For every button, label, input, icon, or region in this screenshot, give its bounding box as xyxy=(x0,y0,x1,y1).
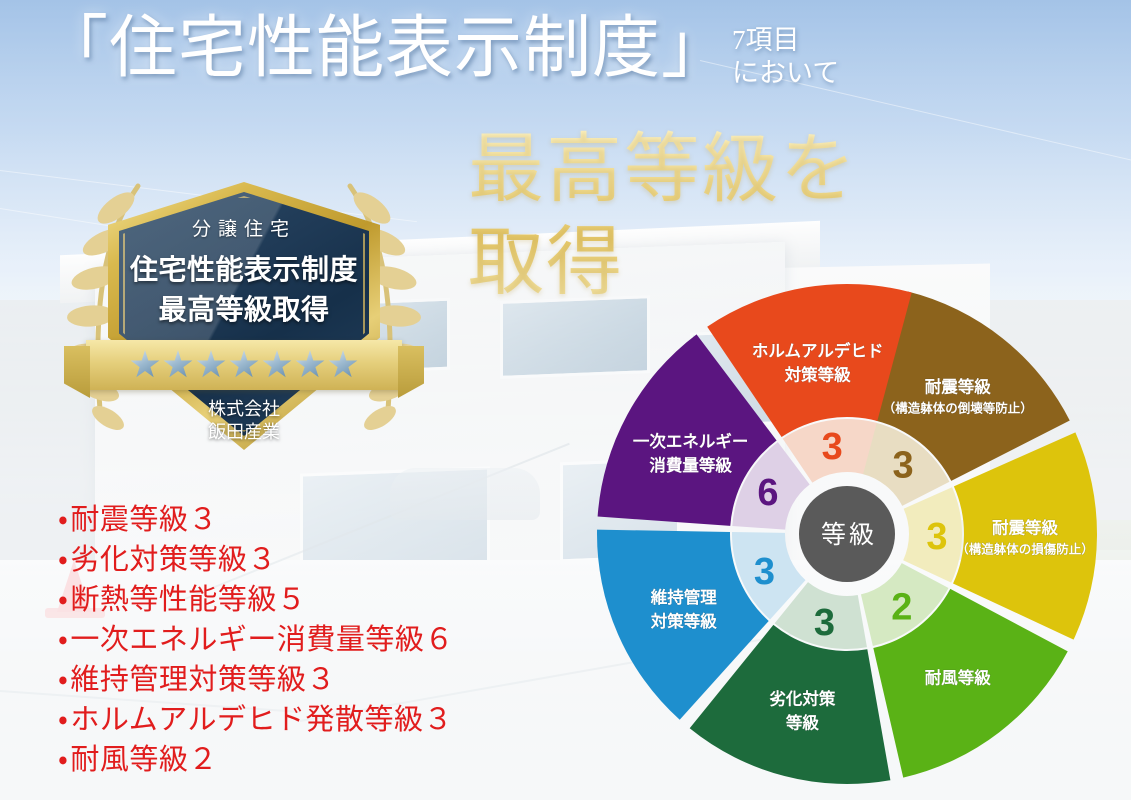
star-icon xyxy=(295,350,325,380)
pie-segment-label: 劣化対策 xyxy=(769,688,836,708)
performance-pie-chart: 3耐震等級（構造躰体の倒壊等防止）3耐震等級（構造躰体の損傷防止）2耐風等級3劣… xyxy=(577,268,1117,800)
headline-main-text: 「住宅性能表示制度」 xyxy=(40,14,730,82)
pie-segment-grade-value: 3 xyxy=(822,426,843,468)
pie-segment-label: ホルムアルデヒド xyxy=(752,340,884,360)
poster-canvas: 「住宅性能表示制度」 7項目 において 最高等級を 取得 xyxy=(0,0,1131,800)
grade-list-item: 断熱等性能等級５ xyxy=(58,580,454,620)
pie-segment-grade-value: 3 xyxy=(754,551,775,593)
badge-company: 株式会社 飯田産業 xyxy=(64,398,424,444)
grade-list-item: 耐震等級３ xyxy=(58,500,454,540)
pie-segment-label: 耐風等級 xyxy=(925,667,992,687)
star-icon xyxy=(262,350,292,380)
grade-list-item: 維持管理対策等級３ xyxy=(58,660,454,700)
pie-segment-sublabel: 等級 xyxy=(786,712,820,732)
headline-sub-text: 7項目 において xyxy=(732,24,839,90)
company-line2: 飯田産業 xyxy=(64,421,424,444)
pie-segment-sublabel: （構造躰体の倒壊等防止） xyxy=(883,401,1033,416)
performance-grade-list: 耐震等級３劣化対策等級３断熱等性能等級５一次エネルギー消費量等級６維持管理対策等… xyxy=(58,500,454,780)
badge-category: 分譲住宅 xyxy=(64,214,424,241)
grade-list-item: 耐風等級２ xyxy=(58,740,454,780)
grade-list-item: 劣化対策等級３ xyxy=(58,540,454,580)
pie-segment-grade-value: 6 xyxy=(757,472,778,514)
pie-segment-label: 耐震等級 xyxy=(925,377,992,397)
star-icon xyxy=(163,350,193,380)
pie-segment-grade-value: 2 xyxy=(891,586,912,628)
star-icon xyxy=(130,350,160,380)
headline-sub-line1: 7項目 xyxy=(732,24,839,57)
pie-segment-label: 一次エネルギー xyxy=(633,431,749,451)
pie-segment-grade-value: 3 xyxy=(814,602,835,644)
pie-segment-sublabel: 消費量等級 xyxy=(649,455,732,475)
gold-subtitle-line1: 最高等級を xyxy=(468,128,858,212)
badge-title-line2: 最高等級取得 xyxy=(64,288,424,328)
pie-segment-label: 維持管理 xyxy=(650,587,718,607)
grade-list-item: ホルムアルデヒド発散等級３ xyxy=(58,700,454,740)
pie-segment-grade-value: 3 xyxy=(926,516,947,558)
company-line1: 株式会社 xyxy=(64,398,424,421)
badge-star-ribbon xyxy=(86,340,402,390)
pie-svg: 3耐震等級（構造躰体の倒壊等防止）3耐震等級（構造躰体の損傷防止）2耐風等級3劣… xyxy=(577,268,1117,800)
pie-segment-sublabel: 対策等級 xyxy=(650,611,718,631)
pie-segment-label: 耐震等級 xyxy=(992,518,1058,538)
headline: 「住宅性能表示制度」 7項目 において xyxy=(40,14,839,90)
star-icon xyxy=(229,350,259,380)
badge-title-line1: 住宅性能表示制度 xyxy=(64,248,424,288)
certification-badge: 分譲住宅 住宅性能表示制度 最高等級取得 株式会社 飯田産業 xyxy=(64,164,424,474)
pie-segment-sublabel: （構造躰体の損傷防止） xyxy=(956,542,1094,557)
star-icon xyxy=(196,350,226,380)
star-icon xyxy=(328,350,358,380)
pie-segment-sublabel: 対策等級 xyxy=(784,364,852,384)
pie-segment-grade-value: 3 xyxy=(892,445,913,487)
headline-sub-line2: において xyxy=(732,57,839,90)
grade-list-item: 一次エネルギー消費量等級６ xyxy=(58,620,454,660)
pie-hub-label: 等級 xyxy=(821,521,877,549)
